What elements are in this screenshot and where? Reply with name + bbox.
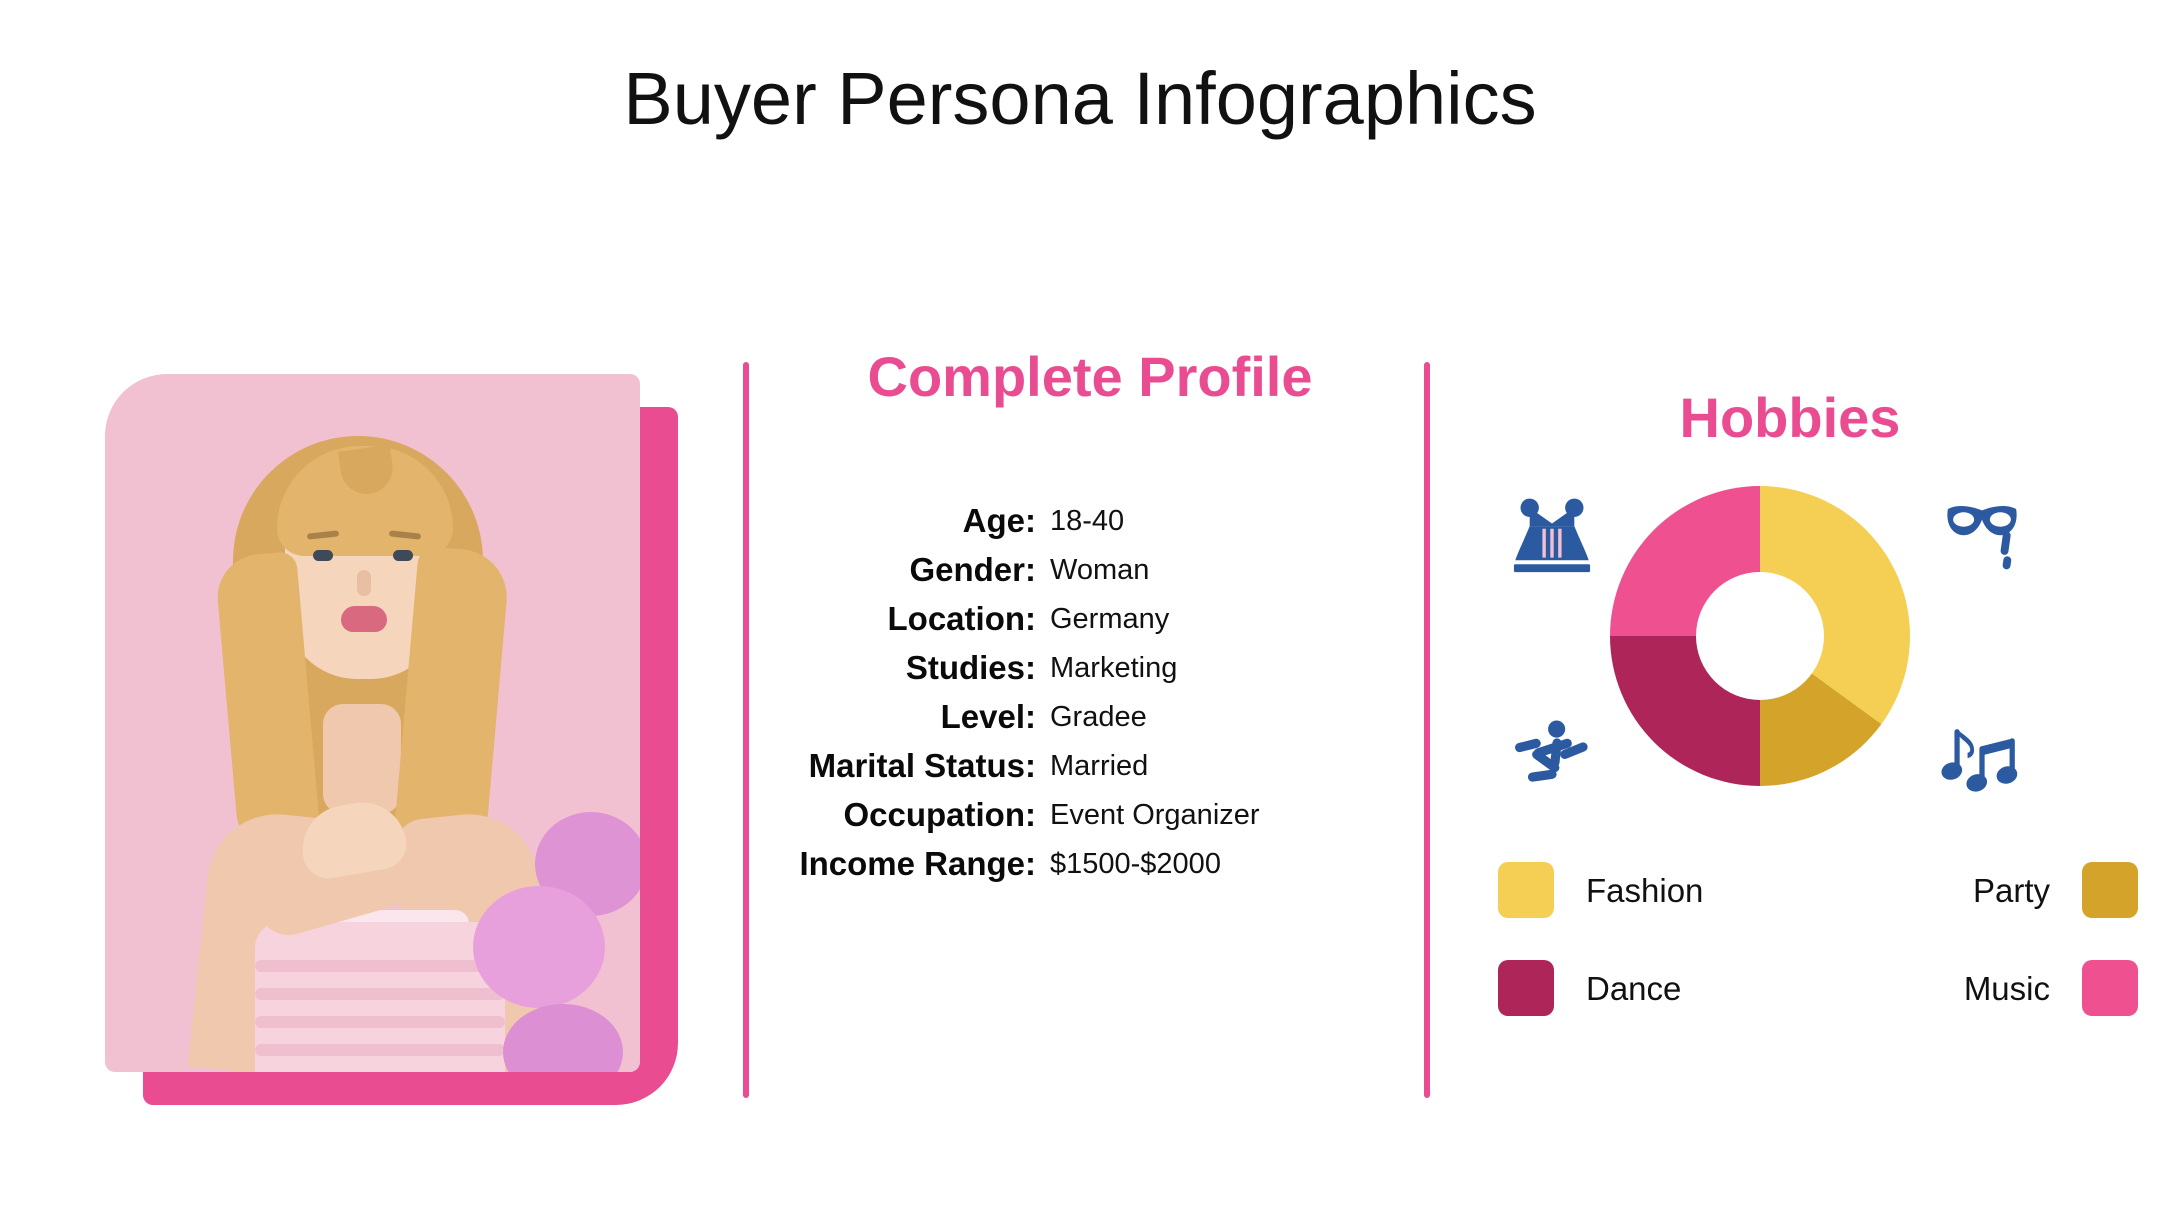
profile-label-level: Level:: [780, 699, 1050, 736]
photo-card-frame: [105, 374, 640, 1072]
profile-row-income-range: Income Range: $1500-$2000: [780, 846, 1400, 883]
buyer-persona-photo-card: [105, 374, 678, 1105]
donut-hole: [1696, 572, 1824, 700]
legend-swatch-fashion: [1498, 862, 1554, 918]
profile-field-list: Age: 18-40 Gender: Woman Location: Germa…: [780, 503, 1400, 895]
legend-label-dance: Dance: [1554, 972, 1818, 1005]
profile-value-marital-status: Married: [1050, 750, 1400, 782]
portrait-dress-ruffle: [255, 1016, 505, 1028]
legend-swatch-music: [2082, 960, 2138, 1016]
profile-label-income-range: Income Range:: [780, 846, 1050, 883]
portrait-lips: [341, 606, 387, 632]
music-notes-icon: [1940, 712, 2024, 796]
profile-value-location: Germany: [1050, 603, 1400, 635]
section-divider-left: [743, 362, 749, 1098]
profile-value-occupation: Event Organizer: [1050, 799, 1400, 831]
profile-row-location: Location: Germany: [780, 601, 1400, 638]
portrait-eye-right: [393, 550, 413, 561]
profile-value-level: Gradee: [1050, 701, 1400, 733]
profile-row-occupation: Occupation: Event Organizer: [780, 797, 1400, 834]
legend-label-fashion: Fashion: [1554, 874, 1818, 907]
persona-portrait-image: [105, 374, 640, 1072]
legend-row-bottom: Dance Music: [1498, 950, 2138, 1026]
profile-value-income-range: $1500-$2000: [1050, 848, 1400, 880]
dancing-person-icon: [1512, 712, 1596, 796]
profile-label-gender: Gender:: [780, 552, 1050, 589]
profile-label-marital-status: Marital Status:: [780, 748, 1050, 785]
profile-label-location: Location:: [780, 601, 1050, 638]
portrait-dress-ruffle: [255, 988, 505, 1000]
hobbies-legend: Fashion Party Dance Music: [1498, 852, 2138, 1048]
legend-row-top: Fashion Party: [1498, 852, 2138, 928]
complete-profile-heading: Complete Profile: [850, 348, 1330, 407]
profile-row-level: Level: Gradee: [780, 699, 1400, 736]
portrait-dress-ruffle: [255, 1044, 505, 1056]
portrait-nose: [357, 570, 371, 596]
hobbies-section: Hobbies: [1440, 390, 2140, 446]
page-title: Buyer Persona Infographics: [0, 62, 2160, 136]
profile-row-gender: Gender: Woman: [780, 552, 1400, 589]
legend-swatch-dance: [1498, 960, 1554, 1016]
legend-swatch-party: [2082, 862, 2138, 918]
profile-row-studies: Studies: Marketing: [780, 650, 1400, 687]
profile-label-occupation: Occupation:: [780, 797, 1050, 834]
dress-icon: [1510, 492, 1594, 576]
profile-label-age: Age:: [780, 503, 1050, 540]
section-divider-right: [1424, 362, 1430, 1098]
profile-row-marital-status: Marital Status: Married: [780, 748, 1400, 785]
profile-label-studies: Studies:: [780, 650, 1050, 687]
profile-row-age: Age: 18-40: [780, 503, 1400, 540]
portrait-balloon-middle: [473, 886, 605, 1008]
legend-label-party: Party: [1818, 874, 2082, 907]
complete-profile-section: Complete Profile Age: 18-40 Gender: Woma…: [780, 348, 1400, 407]
portrait-neck: [323, 704, 401, 814]
profile-value-age: 18-40: [1050, 505, 1400, 537]
portrait-eye-left: [313, 550, 333, 561]
profile-value-studies: Marketing: [1050, 652, 1400, 684]
hobbies-heading: Hobbies: [1440, 390, 2140, 446]
hobbies-donut-chart: [1610, 486, 1910, 786]
legend-label-music: Music: [1818, 972, 2082, 1005]
profile-value-gender: Woman: [1050, 554, 1400, 586]
party-mask-icon: [1940, 488, 2024, 572]
portrait-dress-ruffle: [255, 960, 505, 972]
